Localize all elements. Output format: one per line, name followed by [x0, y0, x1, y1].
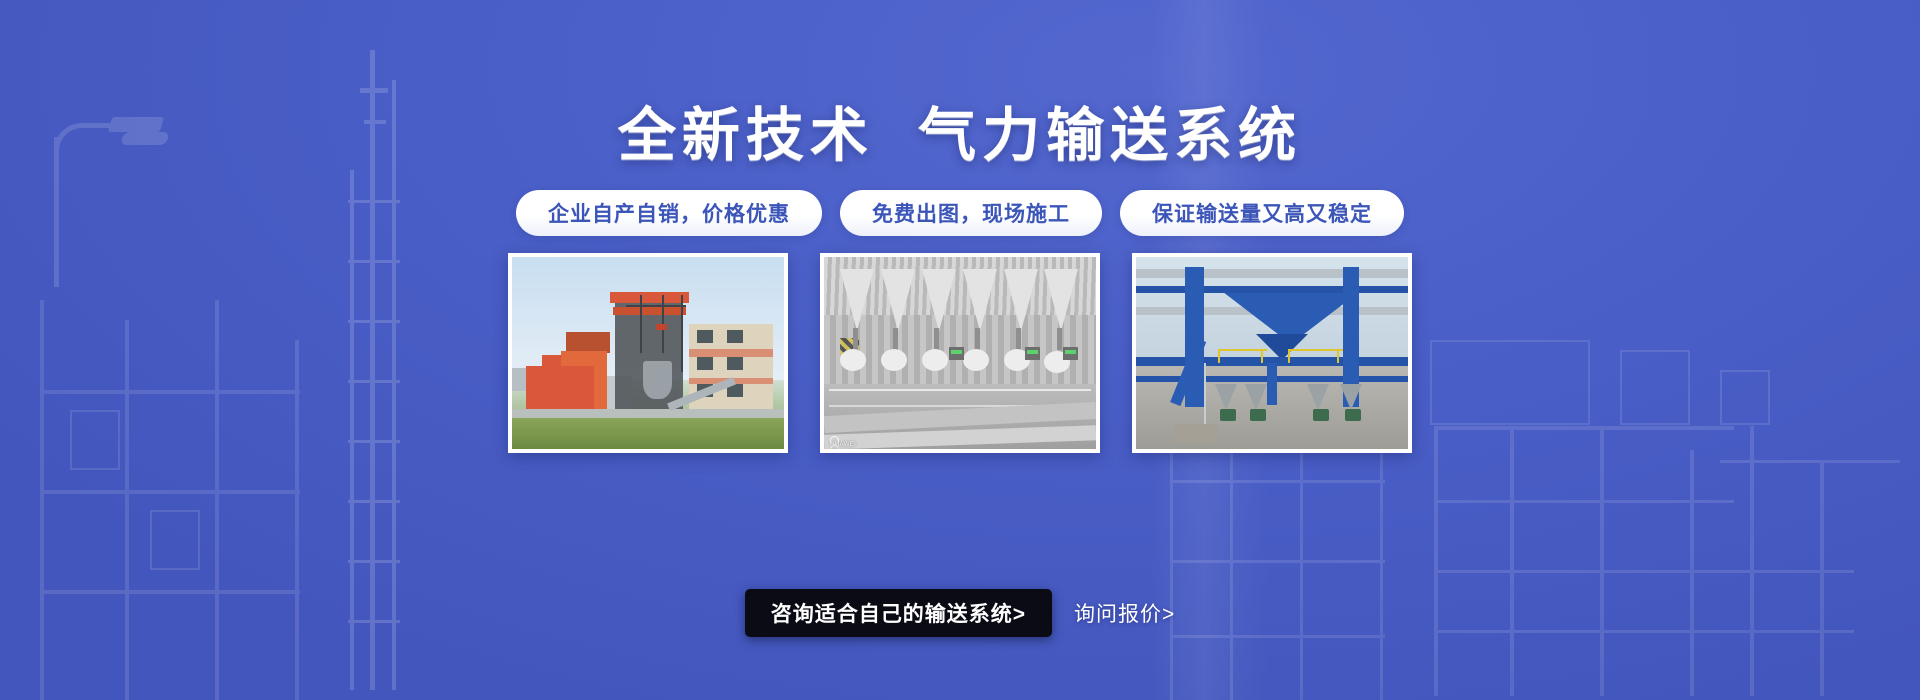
cta-row: 咨询适合自己的输送系统> 询问报价> [0, 589, 1920, 637]
photo-card-list: HUAWEI Mate 10 NEW LEICA DUAL CAMERA [0, 253, 1920, 453]
banner-title: 全新技术 气力输送系统 [0, 88, 1920, 172]
photo-card-3[interactable] [1132, 253, 1412, 453]
photo-blue-steel-structure [1136, 257, 1408, 449]
feature-pill-3[interactable]: 保证输送量又高又稳定 [1120, 190, 1404, 236]
ask-quote-link[interactable]: 询问报价> [1074, 598, 1175, 628]
feature-pill-2[interactable]: 免费出图，现场施工 [840, 190, 1102, 236]
watermark-line-1: HUAWEI Mate 10 [830, 441, 856, 449]
hero-banner: 全新技术 气力输送系统 企业自产自销，价格优惠 免费出图，现场施工 保证输送量又… [0, 0, 1920, 700]
feature-pill-list: 企业自产自销，价格优惠 免费出图，现场施工 保证输送量又高又稳定 [0, 190, 1920, 236]
photo-card-2[interactable]: HUAWEI Mate 10 NEW LEICA DUAL CAMERA [820, 253, 1100, 453]
feature-pill-1[interactable]: 企业自产自销，价格优惠 [516, 190, 822, 236]
photo-outdoor-plant [512, 257, 784, 449]
ghost-refinery-mid [1150, 420, 1480, 700]
photo-card-1[interactable] [508, 253, 788, 453]
consult-system-button[interactable]: 咨询适合自己的输送系统> [745, 589, 1052, 637]
photo-indoor-hoppers: HUAWEI Mate 10 NEW LEICA DUAL CAMERA [824, 257, 1096, 449]
